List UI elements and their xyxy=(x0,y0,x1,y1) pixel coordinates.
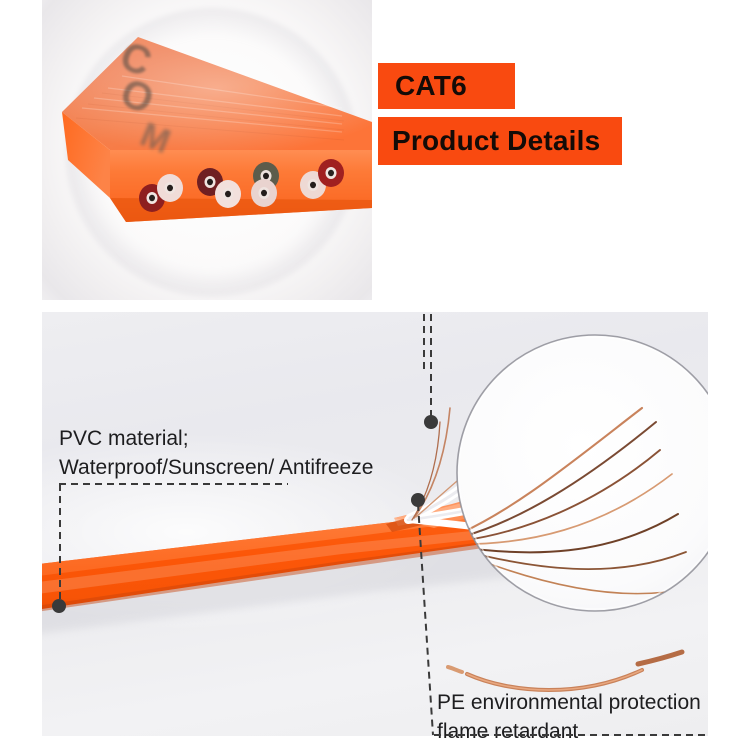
callout-pe-flame-retardant: PE environmental protection flame retard… xyxy=(437,688,701,746)
callout-pe-line-1: PE environmental protection xyxy=(437,688,701,717)
callout-pvc-material: PVC material; Waterproof/Sunscreen/ Anti… xyxy=(59,424,373,482)
bottom-photo-panel xyxy=(42,312,708,736)
product-detail-page: C O M xyxy=(0,0,750,750)
callout-pvc-line-2: Waterproof/Sunscreen/ Antifreeze xyxy=(59,453,373,482)
callout-pe-line-2: flame retardant xyxy=(437,717,701,746)
badge-product-details: Product Details xyxy=(378,117,622,165)
callout-pvc-line-1: PVC material; xyxy=(59,424,373,453)
cable-split-photo xyxy=(42,312,708,736)
cable-cross-section-photo: C O M xyxy=(42,0,372,300)
badge-cat6: CAT6 xyxy=(378,63,515,109)
top-photo-panel: C O M xyxy=(42,0,372,300)
